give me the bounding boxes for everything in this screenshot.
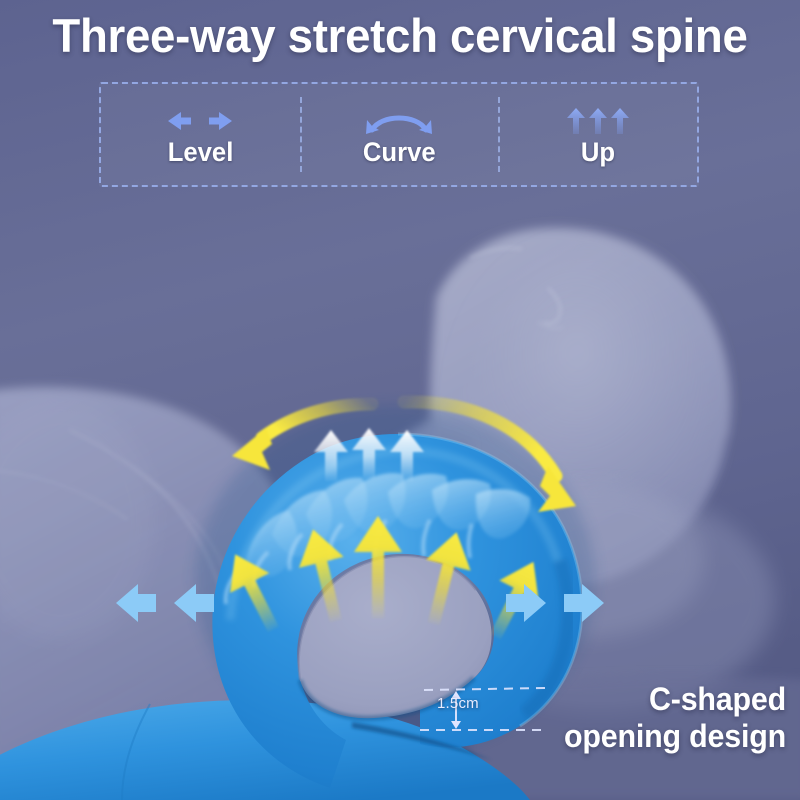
- feature-item-level[interactable]: Level: [101, 84, 300, 185]
- yellow-fan-arrows: [216, 516, 553, 647]
- product-infographic: Three-way stretch cervical spine Level C…: [0, 0, 800, 800]
- curved-arc-arrow-icon: [359, 104, 439, 138]
- blue-horizontal-arrows-left: [116, 584, 214, 622]
- white-arrow-3: [390, 430, 424, 481]
- dim-arrow-head-bottom: [451, 721, 461, 729]
- yellow-arrow-2: [291, 524, 358, 626]
- feature-item-curve[interactable]: Curve: [300, 84, 499, 185]
- blue-left-arrow-outer: [116, 584, 156, 622]
- white-up-arrows: [314, 428, 424, 481]
- page-title: Three-way stretch cervical spine: [12, 8, 788, 63]
- blue-right-arrow-outer: [564, 584, 604, 622]
- yellow-arrow-1: [216, 544, 293, 639]
- caption-line-2: opening design: [473, 718, 787, 755]
- c-shaped-caption: C-shaped opening design: [473, 681, 787, 755]
- feature-label-level: Level: [168, 139, 234, 166]
- white-arrow-1: [314, 430, 348, 481]
- feature-item-up[interactable]: Up: [498, 84, 697, 185]
- feature-box: Level Curve: [99, 82, 699, 187]
- triple-up-arrow-icon: [562, 104, 634, 138]
- yellow-curved-arrow-right: [404, 402, 576, 512]
- white-arrow-2: [352, 428, 386, 479]
- double-horizontal-arrow-icon: [161, 104, 239, 138]
- caption-line-1: C-shaped: [473, 681, 787, 718]
- blue-left-arrow-inner: [174, 584, 214, 622]
- feature-label-up: Up: [581, 139, 615, 166]
- yellow-curved-arrow-left: [232, 404, 372, 470]
- yellow-arrow-4: [412, 527, 479, 629]
- yellow-arrow-3: [354, 516, 402, 618]
- feature-label-curve: Curve: [363, 139, 436, 166]
